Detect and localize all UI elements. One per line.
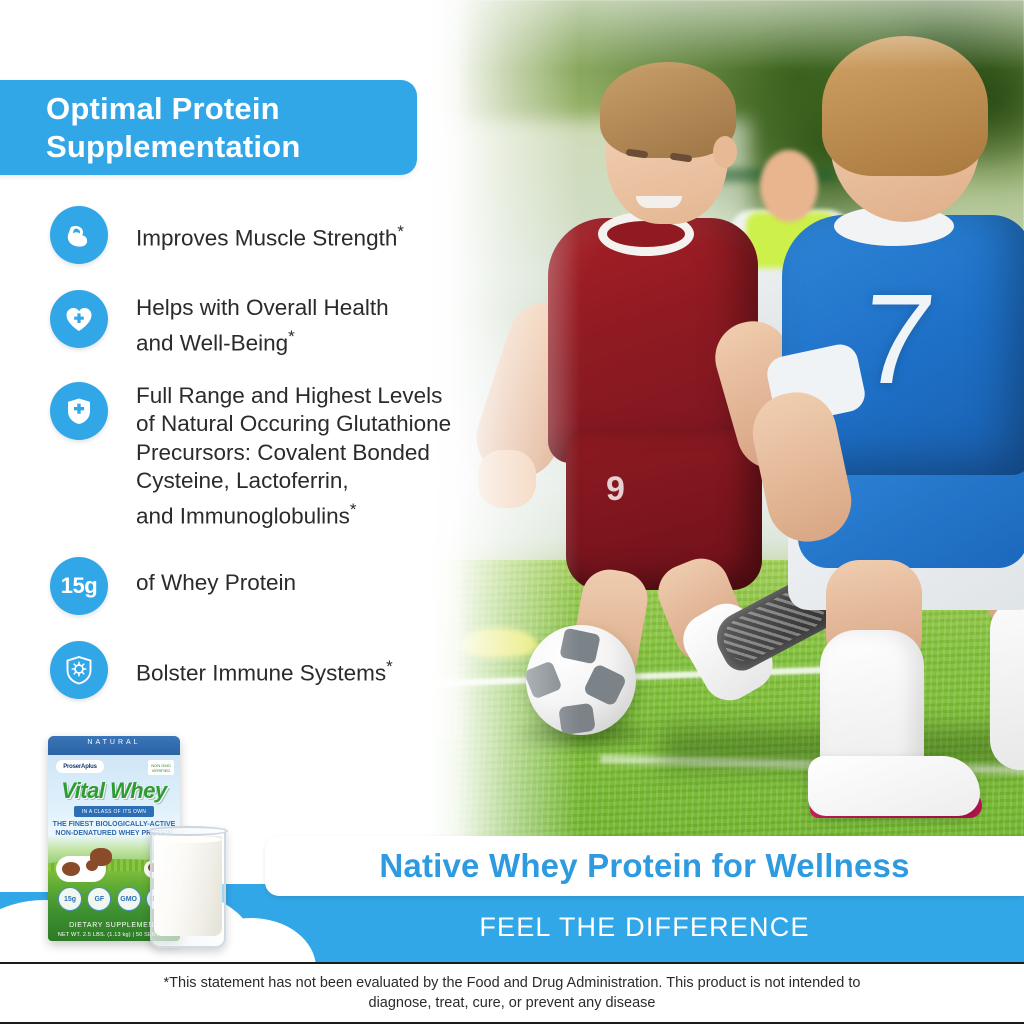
benefit-item-immune-systems: Bolster Immune Systems* xyxy=(50,641,520,699)
product-badge-3: GMO xyxy=(117,887,141,911)
header-title-line1: Optimal Protein xyxy=(46,90,417,128)
photo-blue-player2-sock xyxy=(990,600,1024,770)
benefits-list: Improves Muscle Strength* Helps with Ove… xyxy=(50,206,520,713)
milk-liquid xyxy=(154,836,222,936)
product-pouch-top-seal: NATURAL xyxy=(48,736,180,755)
photo-red-player-ear xyxy=(713,136,737,168)
bottom-headline-banner: Native Whey Protein for Wellness xyxy=(265,836,1024,896)
header-title-line2: Supplementation xyxy=(46,128,417,166)
bottom-headline-text: Native Whey Protein for Wellness xyxy=(379,847,909,885)
photo-red-player-shorts xyxy=(566,430,762,590)
benefit-text-whey-protein: of Whey Protein xyxy=(136,557,296,598)
bottom-tagline-text: FEEL THE DIFFERENCE xyxy=(479,912,809,943)
benefit-item-whey-protein-grams: 15g of Whey Protein xyxy=(50,557,520,615)
footer-disclaimer-line1: *This statement has not been evaluated b… xyxy=(164,973,861,993)
photo-blue-player-number: 7 xyxy=(855,276,940,404)
shield-cross-icon xyxy=(50,382,108,440)
product-name: Vital Whey xyxy=(48,778,180,804)
heart-plus-icon xyxy=(50,290,108,348)
header-banner: Optimal Protein Supplementation xyxy=(0,80,417,175)
benefit-text-muscle-strength: Improves Muscle Strength* xyxy=(136,206,404,253)
footer-disclaimer-line2: diagnose, treat, cure, or prevent any di… xyxy=(369,993,656,1013)
milk-glass-rim xyxy=(148,826,228,836)
fifteen-gram-label: 15g xyxy=(61,573,97,599)
benefit-text-immune-systems: Bolster Immune Systems* xyxy=(136,641,393,688)
photo-red-player-mouth xyxy=(636,196,682,208)
photo-top-fade xyxy=(430,0,1024,70)
footer-disclaimer: *This statement has not been evaluated b… xyxy=(0,962,1024,1024)
bottom-tagline: FEEL THE DIFFERENCE xyxy=(265,906,1024,948)
benefit-item-muscle-strength: Improves Muscle Strength* xyxy=(50,206,520,264)
shield-virus-icon xyxy=(50,641,108,699)
photo-background-adult-head xyxy=(760,150,818,222)
advertisement-root: 9 7 xyxy=(0,0,1024,1024)
product-badge-1: 15g xyxy=(58,887,82,911)
fifteen-gram-badge-icon: 15g xyxy=(50,557,108,615)
benefit-item-glutathione-precursors: Full Range and Highest Levels of Natural… xyxy=(50,382,520,531)
benefit-text-overall-health: Helps with Overall Health and Well-Being… xyxy=(136,290,389,358)
product-natural-label: NATURAL xyxy=(48,739,180,746)
milk-glass xyxy=(150,828,226,948)
photo-blue-player-boot xyxy=(808,756,980,816)
muscle-arm-icon xyxy=(50,206,108,264)
product-brand-logo: ProserAplus xyxy=(56,760,104,773)
benefit-item-overall-health: Helps with Overall Health and Well-Being… xyxy=(50,290,520,358)
product-non-gmo-seal: NON GMO VERIFIED xyxy=(148,760,174,775)
product-ribbon-tagline: IN A CLASS OF ITS OWN xyxy=(74,806,154,817)
product-badge-2: GF xyxy=(87,887,111,911)
benefit-text-glutathione-precursors: Full Range and Highest Levels of Natural… xyxy=(136,382,451,531)
product-cow-illustration xyxy=(56,846,112,882)
photo-red-player-number: 9 xyxy=(606,470,625,509)
